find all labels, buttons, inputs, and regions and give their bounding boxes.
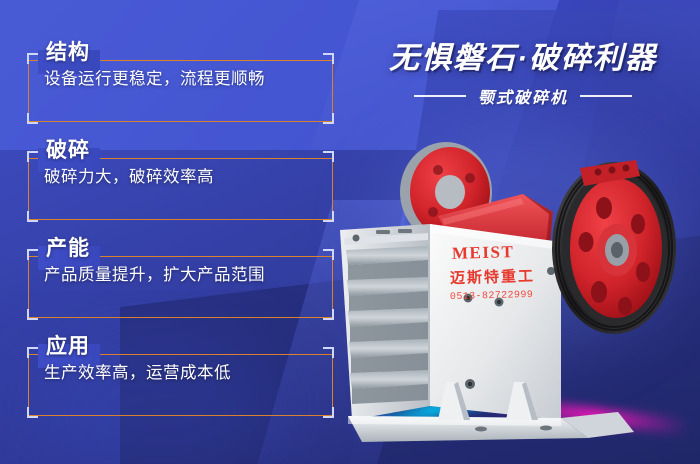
feature-item-capacity[interactable]: 产能 产品质量提升，扩大产品范围 (28, 234, 333, 318)
corner-mark-top-left (27, 53, 38, 64)
headline-title: 无惧磐石·破碎利器 (358, 40, 688, 78)
corner-mark-bottom-left (27, 407, 38, 418)
feature-title: 产能 (42, 234, 98, 264)
corner-mark-top-left (27, 249, 38, 260)
corner-mark-top-left (27, 347, 38, 358)
headline-subtitle: 颚式破碎机 (478, 84, 568, 108)
feature-item-application[interactable]: 应用 生产效率高，运营成本低 (28, 332, 333, 416)
corner-mark-top-right (323, 53, 334, 64)
headline-subtitle-row: 颚式破碎机 (358, 84, 688, 108)
corner-mark-top-left (27, 151, 38, 162)
feature-list: 结构 设备运行更稳定，流程更顺畅 破碎 破碎力大，破碎效率高 产能 产品质量提升… (28, 38, 333, 430)
feature-item-structure[interactable]: 结构 设备运行更稳定，流程更顺畅 (28, 38, 333, 122)
feature-description: 生产效率高，运营成本低 (44, 360, 333, 386)
corner-mark-bottom-left (27, 211, 38, 222)
feature-title: 结构 (42, 38, 98, 68)
feature-description: 破碎力大，破碎效率高 (44, 164, 333, 190)
subtitle-rule-left (414, 95, 466, 97)
corner-mark-bottom-left (27, 309, 38, 320)
feature-description: 产品质量提升，扩大产品范围 (44, 262, 333, 288)
promo-banner: 无惧磐石·破碎利器 颚式破碎机 (0, 0, 700, 464)
corner-mark-bottom-left (27, 113, 38, 124)
feature-title: 破碎 (42, 136, 98, 166)
feature-title: 应用 (42, 332, 98, 362)
feature-description: 设备运行更稳定，流程更顺畅 (44, 66, 333, 92)
subtitle-rule-right (580, 95, 632, 97)
feature-item-crushing[interactable]: 破碎 破碎力大，破碎效率高 (28, 136, 333, 220)
jaw-crusher-illustration (318, 120, 700, 450)
headline-group: 无惧磐石·破碎利器 颚式破碎机 (358, 40, 688, 108)
